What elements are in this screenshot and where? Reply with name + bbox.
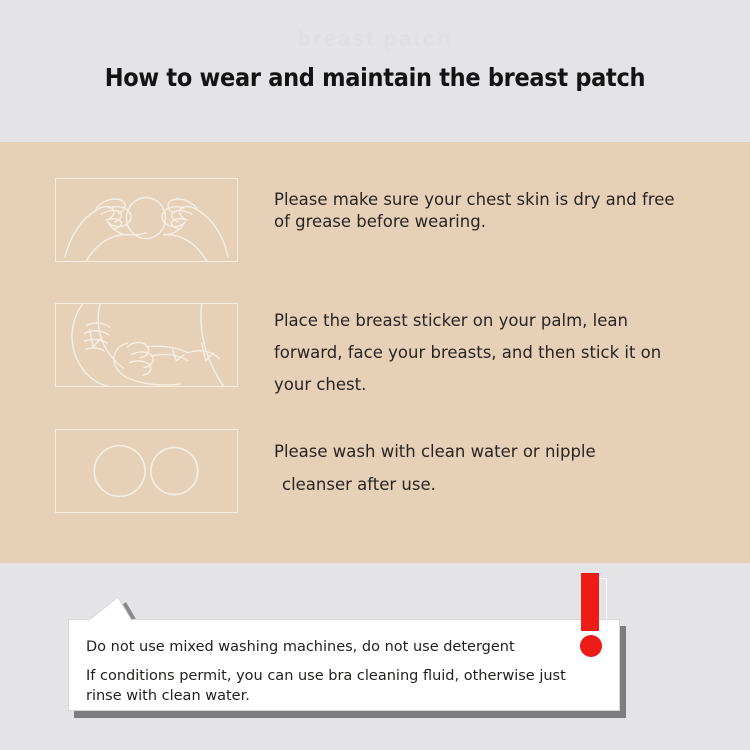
page-header: breast patch How to wear and maintain th… <box>0 0 750 142</box>
instruction-step-text: Please make sure your chest skin is dry … <box>274 178 694 234</box>
warning-line-primary: Do not use mixed washing machines, do no… <box>86 637 606 659</box>
warning-line-secondary: If conditions permit, you can use bra cl… <box>86 666 606 707</box>
two-circular-patches-icon <box>55 429 238 513</box>
exclamation-dot <box>580 635 602 657</box>
callout-tail <box>88 597 132 621</box>
instruction-step: Please make sure your chest skin is dry … <box>0 178 750 262</box>
instruction-step: Place the breast sticker on your palm, l… <box>0 303 750 402</box>
warning-callout-text: Do not use mixed washing machines, do no… <box>86 637 606 707</box>
instruction-step-text: Please wash with clean water or nipple c… <box>274 429 694 501</box>
hand-applying-patch-to-chest-icon <box>55 303 238 387</box>
instruction-step-text: Place the breast sticker on your palm, l… <box>274 303 694 402</box>
exclamation-mark-icon <box>572 573 630 669</box>
instruction-step: Please wash with clean water or nipple c… <box>0 429 750 513</box>
instructions-panel: Please make sure your chest skin is dry … <box>0 142 750 563</box>
watermark-text: breast patch <box>0 26 750 52</box>
exclamation-bar <box>581 573 599 631</box>
two-hands-holding-patch-icon <box>55 178 238 262</box>
instruction-step-line: cleanser after use. <box>274 468 694 501</box>
instruction-step-line: Please wash with clean water or nipple <box>274 442 596 461</box>
page-title: How to wear and maintain the breast patc… <box>0 63 750 92</box>
